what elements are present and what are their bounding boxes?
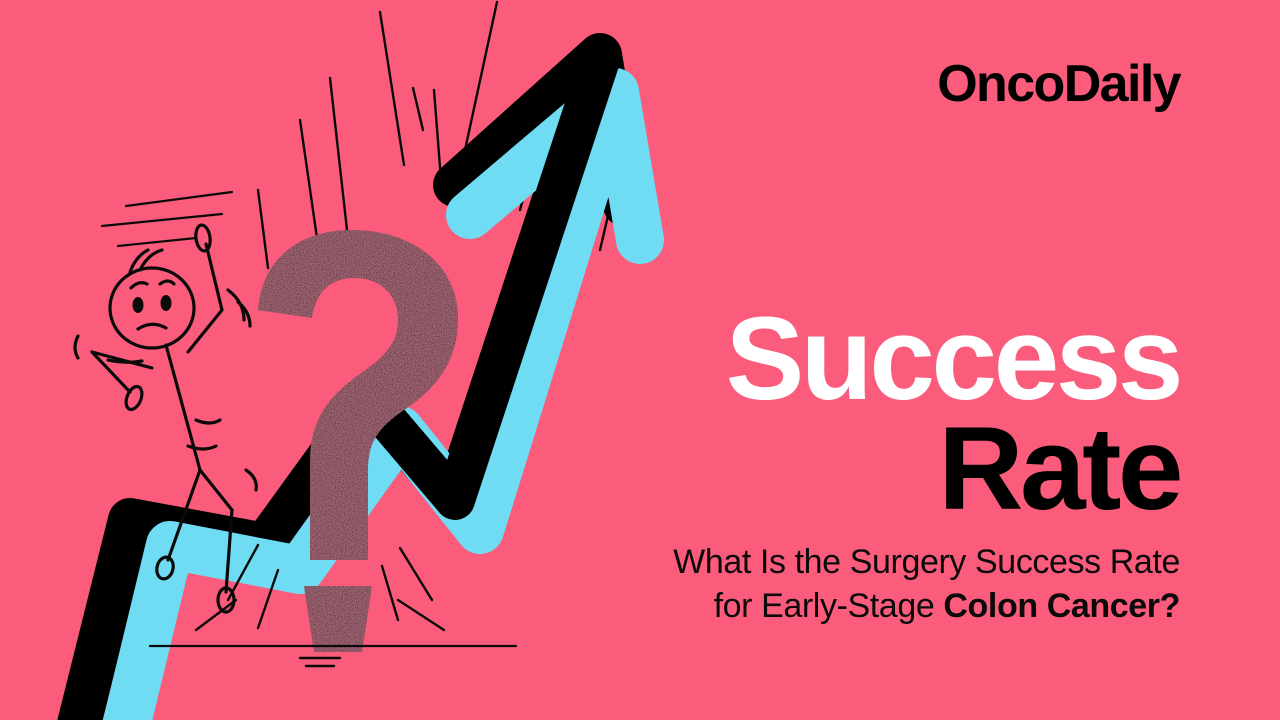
headline-line-rate: Rate <box>540 415 1180 525</box>
subtitle-line-2: for Early-Stage Colon Cancer? <box>540 584 1180 628</box>
subtitle-line-2-prefix: for Early-Stage <box>714 587 944 625</box>
motion-lines <box>258 2 614 300</box>
subtitle: What Is the Surgery Success Rate for Ear… <box>540 540 1180 628</box>
brand-logo[interactable]: OncoDaily <box>937 58 1180 110</box>
subtitle-line-2-emphasis: Colon Cancer? <box>943 587 1180 625</box>
headline: Success Rate <box>540 305 1180 524</box>
poster-canvas: OncoDaily Success Rate What Is the Surge… <box>0 0 1280 720</box>
question-mark <box>258 230 458 652</box>
subtitle-line-1: What Is the Surgery Success Rate <box>540 540 1180 584</box>
stick-figure <box>75 224 256 612</box>
impact-lines <box>196 545 444 666</box>
motion-lines-horizontal <box>102 192 232 246</box>
headline-line-success: Success <box>540 305 1180 415</box>
